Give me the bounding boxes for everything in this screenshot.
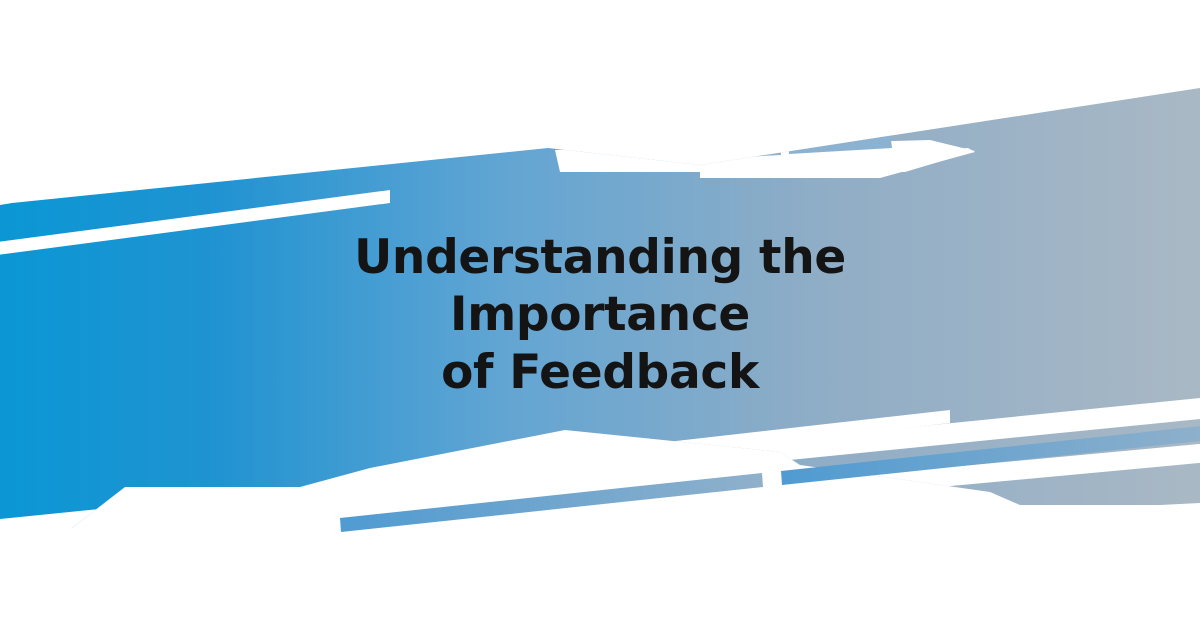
dash-mark-1-icon <box>698 141 712 159</box>
bottom-blue-dash-1 <box>340 473 763 532</box>
decorative-banner-graphic <box>0 0 1200 630</box>
dash-mark-2-icon <box>720 140 735 158</box>
banner-card: Understanding the Importance of Feedback <box>0 0 1200 630</box>
dash-mark-3-icon <box>742 138 781 157</box>
